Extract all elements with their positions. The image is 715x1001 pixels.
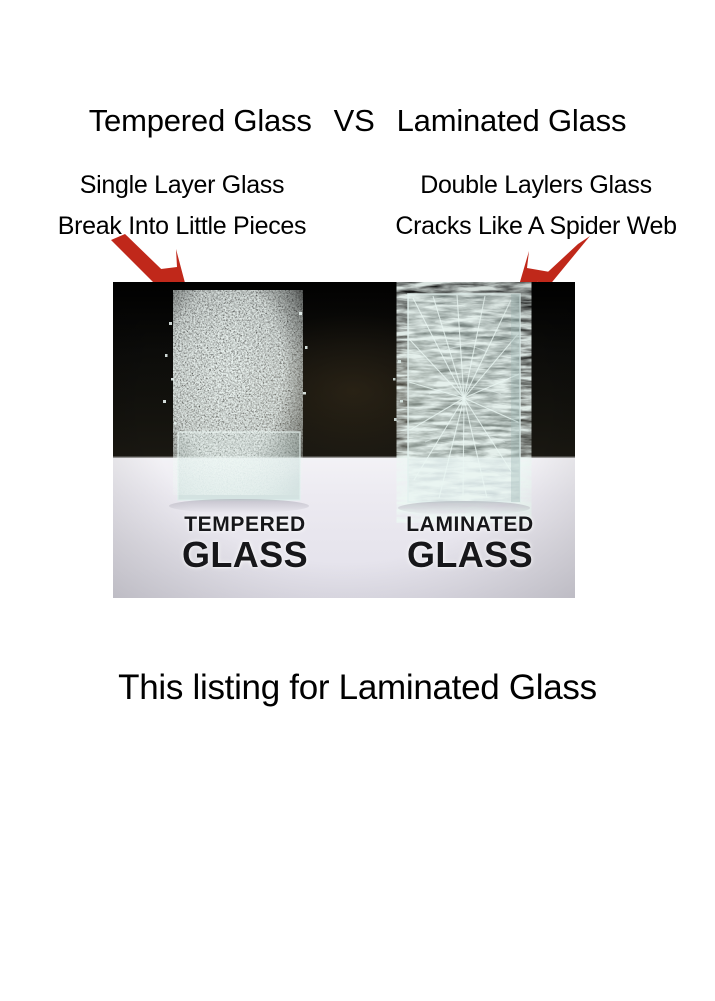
- photo-caption-tempered-big: GLASS: [150, 537, 340, 573]
- title-laminated-glass: Laminated Glass: [397, 103, 627, 139]
- page-title: Tempered GlassVSLaminated Glass: [0, 103, 715, 139]
- title-vs-separator: VS: [334, 103, 375, 139]
- left-description-line-2: Break Into Little Pieces: [8, 206, 356, 247]
- subtitle-row: Single Layer Glass Break Into Little Pie…: [0, 165, 715, 245]
- right-description-line-2: Cracks Like A Spider Web: [360, 206, 712, 247]
- right-column-description: Double Laylers Glass Cracks Like A Spide…: [360, 165, 712, 247]
- title-tempered-glass: Tempered Glass: [89, 103, 312, 139]
- photo-caption-laminated-big: GLASS: [375, 537, 565, 573]
- laminated-stray-fragments: [393, 360, 403, 421]
- listing-note: This listing for Laminated Glass: [0, 668, 715, 708]
- right-description-line-1: Double Laylers Glass: [360, 165, 712, 206]
- left-description-line-1: Single Layer Glass: [8, 165, 356, 206]
- laminated-glass-panel: [393, 294, 530, 515]
- photo-caption-tempered-small: TEMPERED: [150, 513, 340, 536]
- comparison-photo: TEMPERED GLASS LAMINATED GLASS: [113, 282, 575, 598]
- tempered-glass-panel: [163, 290, 309, 513]
- photo-caption-laminated-small: LAMINATED: [375, 513, 565, 536]
- left-column-description: Single Layer Glass Break Into Little Pie…: [8, 165, 356, 247]
- photo-caption-laminated: LAMINATED GLASS: [375, 513, 565, 573]
- photo-caption-tempered: TEMPERED GLASS: [150, 513, 340, 573]
